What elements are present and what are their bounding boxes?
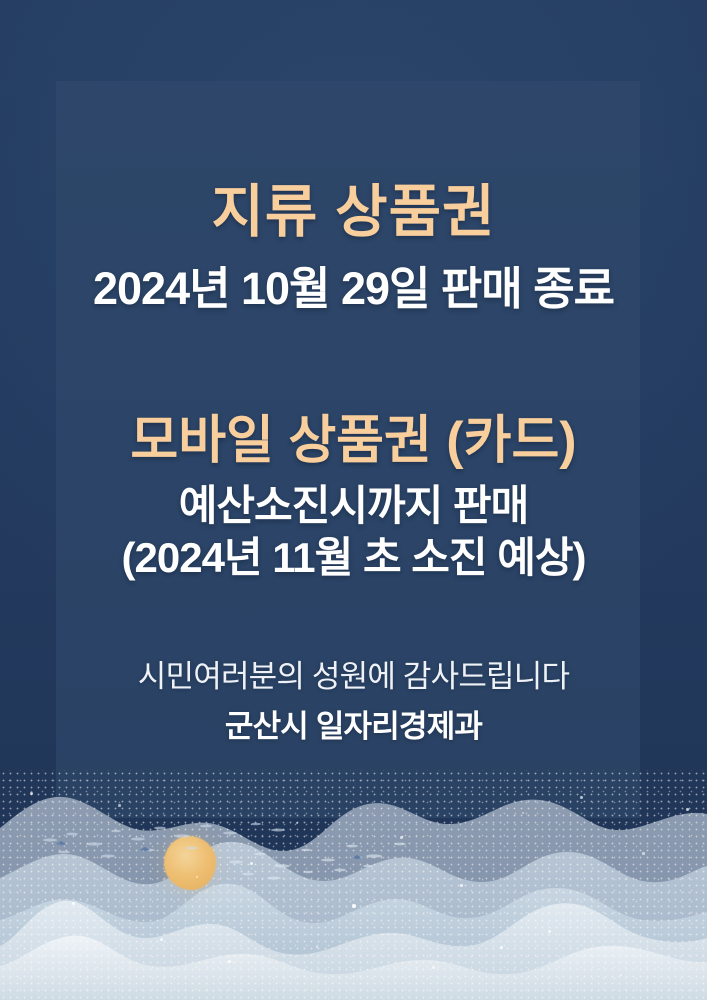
mobile-voucher-heading: 모바일 상품권 (카드)	[0, 413, 707, 469]
mobile-voucher-block: 모바일 상품권 (카드) 예산소진시까지 판매 (2024년 11월 초 소진 …	[0, 413, 707, 580]
mobile-voucher-line-1: 예산소진시까지 판매	[0, 483, 707, 528]
mobile-voucher-line-2: (2024년 11월 초 소진 예상)	[0, 535, 707, 580]
paper-voucher-heading: 지류 상품권	[0, 182, 707, 244]
moon-icon	[164, 836, 216, 890]
footer-block: 시민여러분의 성원에 감사드립니다 군산시 일자리경제과	[0, 660, 707, 744]
department-name: 군산시 일자리경제과	[0, 710, 707, 743]
thanks-message: 시민여러분의 성원에 감사드립니다	[0, 660, 707, 693]
paper-voucher-block: 지류 상품권 2024년 10월 29일 판매 종료	[0, 182, 707, 313]
poster: 지류 상품권 2024년 10월 29일 판매 종료 모바일 상품권 (카드) …	[0, 0, 707, 1000]
poster-content: 지류 상품권 2024년 10월 29일 판매 종료 모바일 상품권 (카드) …	[0, 0, 707, 830]
paper-voucher-subheading: 2024년 10월 29일 판매 종료	[0, 265, 707, 314]
